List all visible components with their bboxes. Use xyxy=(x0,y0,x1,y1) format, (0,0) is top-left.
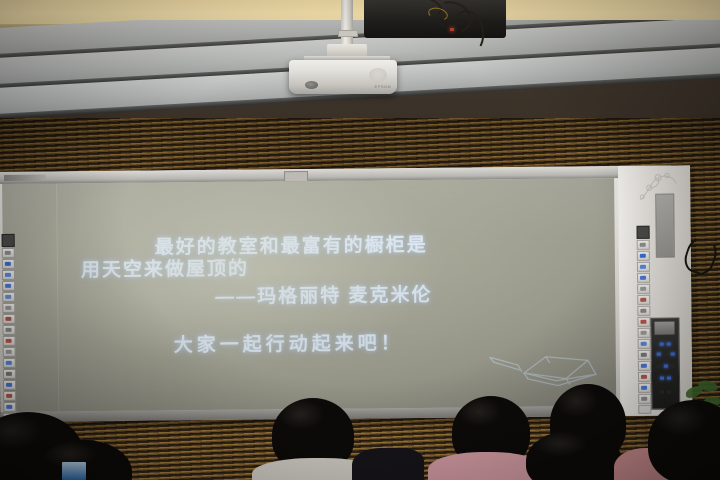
pole-collar xyxy=(338,30,358,37)
tool-redo-icon[interactable] xyxy=(638,328,651,338)
tool-keyboard-icon[interactable] xyxy=(3,380,16,390)
tool-curtain-icon[interactable] xyxy=(638,350,651,360)
control-led[interactable] xyxy=(656,353,660,356)
control-panel-display xyxy=(654,322,674,335)
projector-body: EPSON xyxy=(289,60,397,94)
speaker-grill xyxy=(655,194,675,258)
tool-settings-icon[interactable] xyxy=(638,394,651,404)
tool-pen-icon[interactable] xyxy=(2,259,15,269)
board-brand-tag xyxy=(4,175,46,181)
projector-lens-icon xyxy=(305,81,318,89)
tool-settings-icon[interactable] xyxy=(3,402,16,412)
slide-attribution: ——玛格丽特 麦克米伦 xyxy=(215,280,433,309)
tool-text-icon[interactable] xyxy=(2,314,15,324)
tool-text-icon[interactable] xyxy=(637,306,650,316)
projector-brand-label: EPSON xyxy=(374,84,391,89)
tool-keyboard-icon[interactable] xyxy=(638,372,651,382)
tool-camera-icon[interactable] xyxy=(3,369,16,379)
tool-select-icon[interactable] xyxy=(637,226,650,239)
tool-highlighter-icon[interactable] xyxy=(637,262,650,272)
wall-control-panel[interactable] xyxy=(650,317,680,409)
tool-spotlight-icon[interactable] xyxy=(638,339,651,349)
tool-curtain-icon[interactable] xyxy=(3,358,16,368)
tool-select-icon[interactable] xyxy=(2,234,15,247)
control-led[interactable] xyxy=(656,365,660,368)
tool-eraser-icon[interactable] xyxy=(2,281,15,291)
tool-highlighter-icon[interactable] xyxy=(2,270,15,280)
tool-redo-icon[interactable] xyxy=(3,336,16,346)
control-led[interactable] xyxy=(660,343,664,346)
control-led[interactable] xyxy=(660,391,664,394)
control-led[interactable] xyxy=(667,391,671,394)
tool-line-icon[interactable] xyxy=(2,303,15,313)
tool-camera-icon[interactable] xyxy=(638,361,651,371)
projector-vent-icon xyxy=(369,68,387,82)
tool-pointer-icon[interactable] xyxy=(637,240,650,250)
projection-screen[interactable]: 最好的教室和最富有的橱柜是 用天空来做屋顶的 ——玛格丽特 麦克米伦 大家一起行… xyxy=(2,178,616,412)
slide-call-to-action: 大家一起行动起来吧！ xyxy=(174,328,404,357)
student-center-sleeve xyxy=(352,448,424,480)
tool-save-icon[interactable] xyxy=(638,383,651,393)
control-led[interactable] xyxy=(660,377,664,380)
control-led[interactable] xyxy=(670,365,674,368)
control-led[interactable] xyxy=(667,377,671,380)
board-right-frame xyxy=(618,165,692,416)
classroom-photo: EPSON 最好的教室和最富有的橱柜是 用天空来做屋顶的 ——玛格丽特 麦克米伦… xyxy=(0,0,720,480)
tool-undo-icon[interactable] xyxy=(2,325,15,335)
slide-line-2: 用天空来做屋顶的 xyxy=(81,254,249,283)
ceiling-mount-pole xyxy=(341,0,353,46)
right-tool-palette[interactable] xyxy=(637,226,652,414)
tool-eraser-icon[interactable] xyxy=(637,273,650,283)
tool-pointer-icon[interactable] xyxy=(2,248,15,258)
tool-more-icon[interactable] xyxy=(638,405,651,414)
blue-phone xyxy=(62,462,86,480)
tool-shapes-icon[interactable] xyxy=(2,292,15,302)
control-led[interactable] xyxy=(663,353,667,356)
control-led[interactable] xyxy=(667,343,671,346)
control-led[interactable] xyxy=(663,365,667,368)
tool-spotlight-icon[interactable] xyxy=(3,347,16,357)
tool-line-icon[interactable] xyxy=(637,295,650,305)
tool-pen-icon[interactable] xyxy=(637,251,650,261)
left-tool-palette[interactable] xyxy=(2,234,17,422)
control-led[interactable] xyxy=(670,353,674,356)
tool-shapes-icon[interactable] xyxy=(637,284,650,294)
tool-undo-icon[interactable] xyxy=(637,317,650,327)
tool-save-icon[interactable] xyxy=(3,391,16,401)
